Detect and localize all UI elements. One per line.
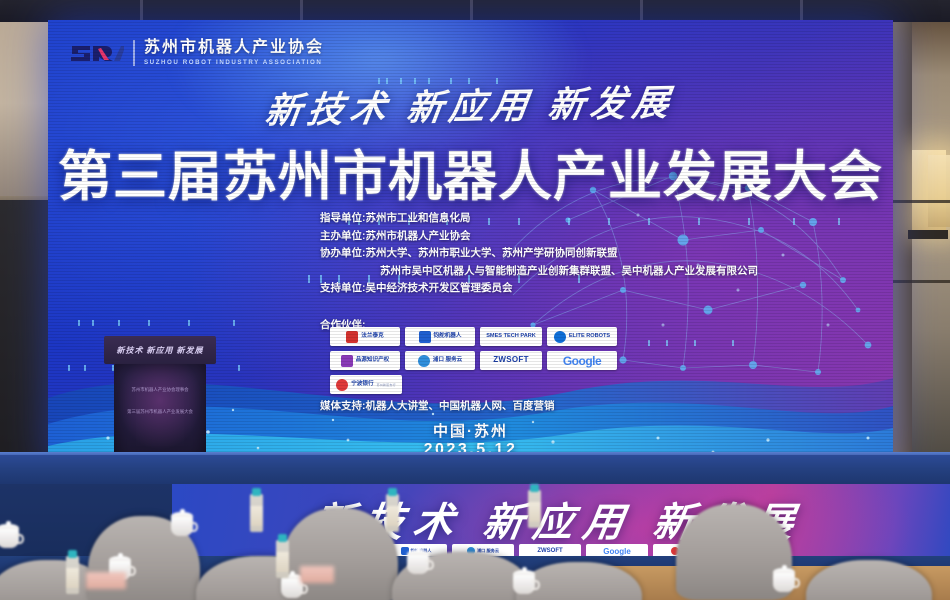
speaker-podium: 新技术 新应用 新发展 苏州市机器人产业协会理事会 第三届苏州市机器人产业发展大…	[104, 336, 216, 468]
organizer-value: 苏州市工业和信息化局	[366, 212, 471, 224]
partner-logo: SMES TECH PARK	[480, 327, 542, 346]
organizer-label: 指导单位:	[320, 210, 366, 228]
organizer-label: 主办单位:	[320, 228, 366, 246]
partner-logo: ZWSOFT	[480, 351, 542, 370]
association-name-en: SUZHOU ROBOT INDUSTRY ASSOCIATION	[144, 59, 324, 66]
organizer-label: 协办单位:	[320, 245, 366, 263]
partner-name: 法兰泰克	[361, 333, 383, 339]
logo-divider	[133, 40, 135, 66]
organizer-row: 苏州市吴中区机器人与智能制造产业创新集群联盟、吴中机器人产业发展有限公司	[320, 263, 790, 281]
water-bottle	[386, 494, 399, 532]
organizer-block: 指导单位:苏州市工业和信息化局 主办单位:苏州市机器人产业协会 协办单位:苏州大…	[320, 210, 790, 298]
partner-logo: 宁波银行 苏州新区支行	[330, 375, 402, 394]
partner-name: SMES TECH PARK	[486, 333, 536, 339]
organizer-value: 苏州市吴中区机器人与智能制造产业创新集群联盟、吴中机器人产业发展有限公司	[380, 265, 758, 277]
water-bottle	[66, 556, 79, 594]
partner-icon	[419, 331, 431, 343]
partner-icon	[554, 331, 566, 343]
water-bottle	[528, 490, 541, 528]
association-name-cn: 苏州市机器人产业协会	[144, 40, 324, 57]
partner-icon	[336, 379, 348, 391]
partner-logo: 法兰泰克	[330, 327, 400, 346]
teacup	[510, 568, 540, 594]
teacup	[770, 566, 800, 592]
name-card	[86, 572, 126, 589]
partner-name: ELITE ROBOTS	[569, 333, 610, 339]
partner-name: 宁波银行	[351, 381, 373, 387]
partner-branch: 苏州新区支行	[377, 383, 396, 387]
podium-slogan: 新技术 新应用 新发展	[104, 336, 216, 364]
organizer-row: 支持单位:吴中经济技术开发区管理委员会	[320, 280, 790, 298]
teacup	[0, 522, 24, 548]
partner-icon	[346, 331, 358, 343]
partner-logo: 钧舵机器人	[405, 327, 475, 346]
podium-title-line-1: 苏州市机器人产业协会理事会	[122, 386, 198, 393]
media-support-line: 媒体支持:机器人大讲堂、中国机器人网、百度营销	[320, 398, 555, 413]
organizer-row: 协办单位:苏州大学、苏州市职业大学、苏州产学研协同创新联盟	[320, 245, 790, 263]
ceiling-panels	[0, 0, 950, 22]
partner-logo: Google	[547, 351, 617, 370]
partner-icon	[341, 355, 353, 367]
partner-name: 浦口 服务云	[433, 357, 463, 363]
partner-name: Google	[563, 354, 601, 368]
organizer-value: 吴中经济技术开发区管理委员会	[366, 282, 513, 294]
organizer-row: 主办单位:苏州市机器人产业协会	[320, 228, 790, 246]
water-bottle	[250, 494, 263, 532]
conference-hall-scene: 苏州市机器人产业协会 SUZHOU ROBOT INDUSTRY ASSOCIA…	[0, 0, 950, 600]
podium-title-line-2: 第三届苏州市机器人产业发展大会	[122, 408, 198, 415]
sra-monogram-icon	[68, 38, 124, 68]
partner-name: ZWSOFT	[537, 548, 562, 554]
podium-top-panel: 新技术 新应用 新发展	[104, 336, 216, 364]
water-bottle	[276, 540, 289, 578]
partner-logo: 浦口 服务云	[405, 351, 475, 370]
organizer-value: 苏州大学、苏州市职业大学、苏州产学研协同创新联盟	[366, 247, 618, 259]
teacup	[168, 510, 198, 536]
organizer-row: 指导单位:苏州市工业和信息化局	[320, 210, 790, 228]
partner-logo: ELITE ROBOTS	[547, 327, 617, 346]
partner-icon	[418, 355, 430, 367]
partner-logo: 品源知识产权	[330, 351, 400, 370]
partner-name: 品源知识产权	[356, 357, 390, 363]
association-logo: 苏州市机器人产业协会 SUZHOU ROBOT INDUSTRY ASSOCIA…	[68, 38, 324, 68]
organizer-label: 支持单位:	[320, 280, 366, 298]
organizer-value: 苏州市机器人产业协会	[366, 230, 471, 242]
partner-name: 钧舵机器人	[434, 333, 462, 339]
partner-name: ZWSOFT	[493, 356, 529, 365]
sconce-base	[908, 230, 948, 239]
event-main-title: 第三届苏州市机器人产业发展大会	[48, 132, 893, 211]
teacup	[404, 548, 434, 574]
partner-logo-grid: 法兰泰克 钧舵机器人 SMES TECH PARK ELITE ROBOTS 品…	[330, 327, 638, 394]
wall-sconce-light-secondary	[928, 155, 950, 227]
partner-name: Google	[603, 547, 631, 556]
name-card	[300, 566, 334, 583]
